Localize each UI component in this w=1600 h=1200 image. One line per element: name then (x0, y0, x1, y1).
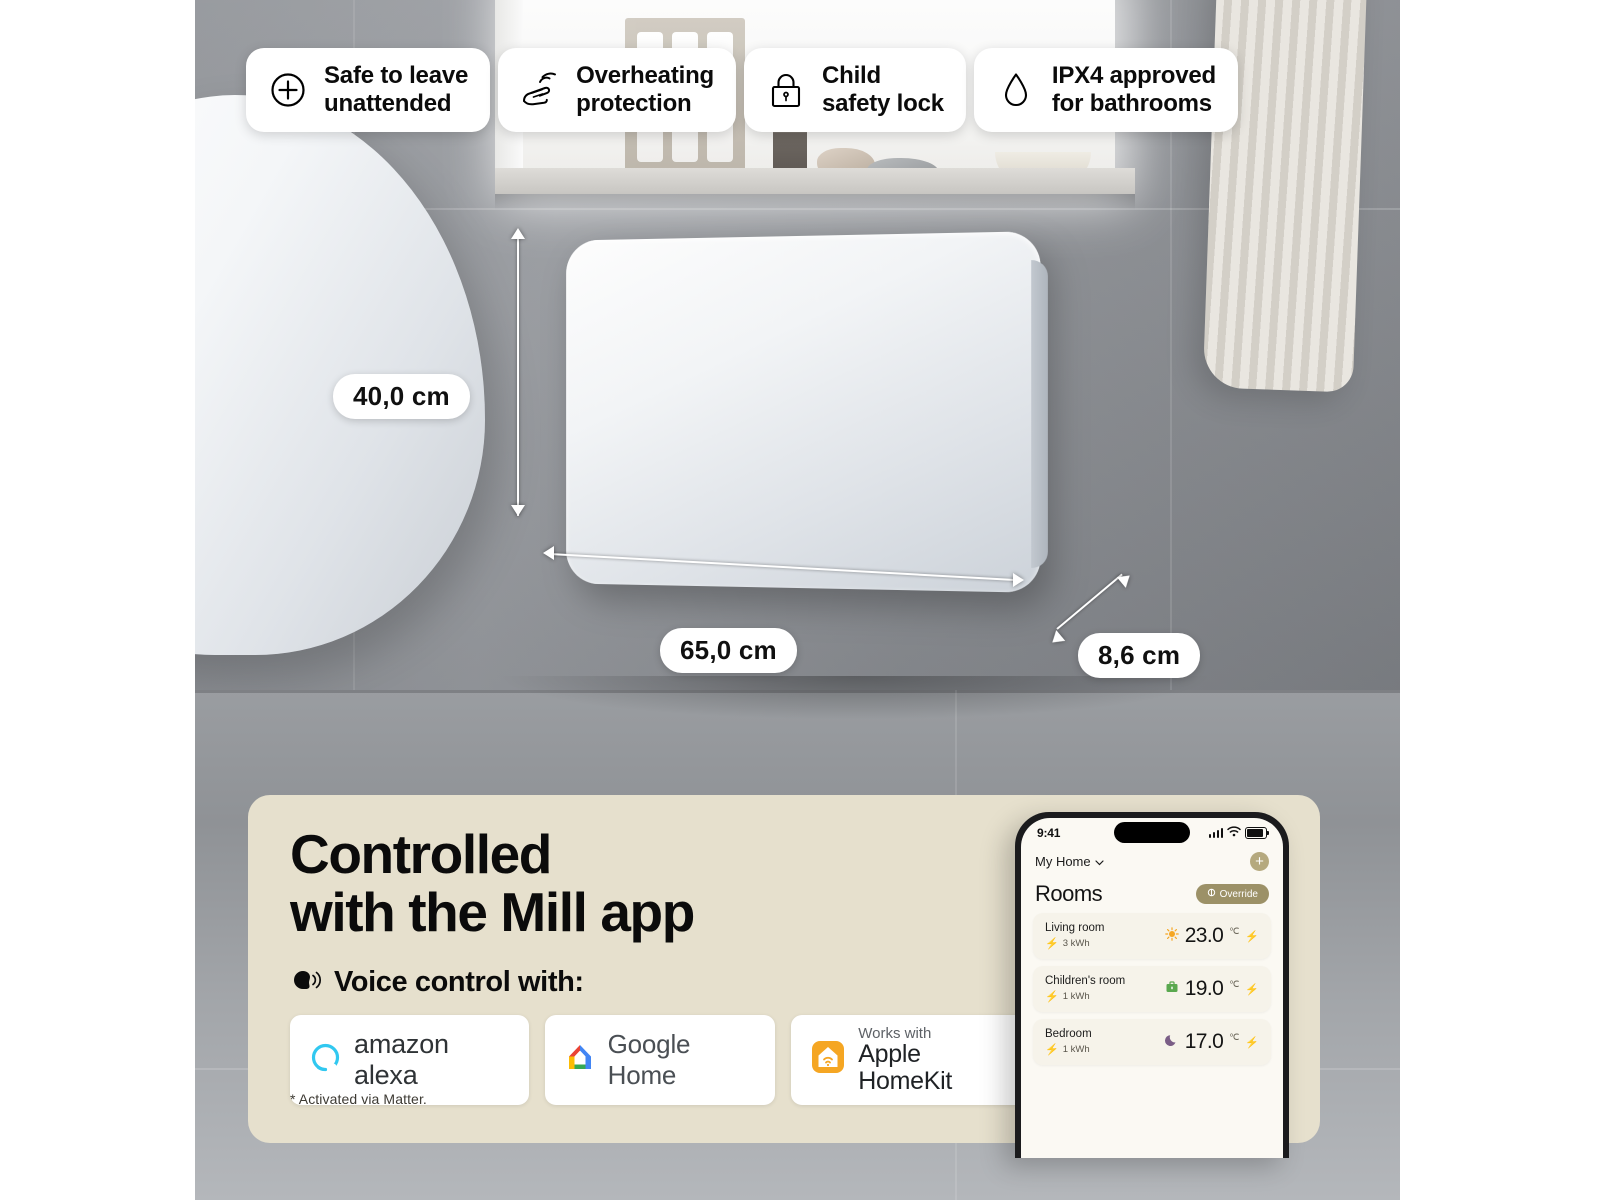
room-temp-unit: ℃ (1229, 926, 1239, 937)
override-icon (1207, 888, 1216, 900)
chip-label-lines: Works with Apple HomeKit (858, 1026, 1010, 1094)
homekit-house-icon (811, 1040, 845, 1079)
feature-badges: Safe to leave unattended Overheating pro… (246, 48, 1238, 132)
room-energy-value: 3 kWh (1063, 938, 1090, 949)
chip-label: Google Home (608, 1029, 756, 1091)
badge-label: Child safety lock (822, 62, 944, 118)
sun-icon (1165, 927, 1179, 946)
badge-child-safety-lock: Child safety lock (744, 48, 966, 132)
dynamic-island (1114, 822, 1190, 843)
water-drop-icon (996, 70, 1036, 110)
room-row-childrens-room[interactable]: Children's room ⚡ 1 kWh 19.0 (1033, 966, 1271, 1012)
room-row-living-room[interactable]: Living room ⚡ 3 kWh (1033, 913, 1271, 959)
badge-overheating-protection: Overheating protection (498, 48, 736, 132)
room-temp-unit: ℃ (1229, 979, 1239, 990)
badge-label: Safe to leave unattended (324, 62, 468, 118)
room-energy: ⚡ 1 kWh (1045, 1043, 1092, 1056)
chip-label: amazon alexa (354, 1029, 509, 1091)
room-name: Bedroom (1045, 1028, 1092, 1040)
moon-icon (1165, 1033, 1179, 1052)
room-energy: ⚡ 3 kWh (1045, 937, 1104, 950)
wifi-icon (1227, 824, 1241, 842)
room-name: Living room (1045, 922, 1104, 934)
phone-mockup: 9:41 My Home (1015, 812, 1289, 1158)
badge-safe-to-leave-unattended: Safe to leave unattended (246, 48, 490, 132)
rooms-title: Rooms (1035, 881, 1102, 907)
room-temp-unit: ℃ (1229, 1032, 1239, 1043)
width-arrow-left (543, 546, 554, 560)
height-arrow-bottom (511, 505, 525, 516)
heater-ground-shadow (495, 676, 1215, 720)
room-temperature: 17.0 (1185, 1030, 1223, 1054)
bolt-icon: ⚡ (1045, 937, 1059, 950)
override-button[interactable]: Override (1196, 884, 1269, 904)
room-temperature: 23.0 (1185, 924, 1223, 948)
homekit-works-with-label: Works with (858, 1026, 1010, 1042)
height-arrow-top (511, 228, 525, 239)
room-temperature: 19.0 (1185, 977, 1223, 1001)
chip-apple-homekit[interactable]: Works with Apple HomeKit (791, 1015, 1030, 1105)
battery-icon (1245, 827, 1267, 839)
signal-bars-icon (1209, 828, 1224, 838)
status-time: 9:41 (1037, 826, 1060, 840)
home-selector-label: My Home (1035, 854, 1091, 869)
bolt-icon: ⚡ (1245, 1036, 1259, 1049)
room-energy-value: 1 kWh (1063, 1044, 1090, 1055)
promo-text-block: Controlled with the Mill app Voice contr… (290, 825, 1030, 1105)
sill-shadow (495, 194, 1135, 210)
product-marketing-image: 40,0 cm 65,0 cm 8,6 cm Safe to leave una… (0, 0, 1600, 1200)
mill-app-screen: 9:41 My Home (1021, 818, 1283, 1158)
briefcase-icon (1165, 980, 1179, 999)
speaking-head-icon (290, 967, 322, 998)
matter-footnote: * Activated via Matter. (290, 1091, 427, 1107)
rooms-section-header: Rooms Override (1021, 871, 1283, 913)
add-device-button[interactable]: + (1250, 852, 1269, 871)
app-header: My Home + (1021, 846, 1283, 871)
heater-side-edge (1031, 260, 1048, 569)
home-selector[interactable]: My Home (1035, 854, 1104, 869)
override-label: Override (1220, 889, 1258, 900)
chip-google-home[interactable]: Google Home (545, 1015, 776, 1105)
mill-panel-heater (566, 231, 1040, 593)
hand-heat-waves-icon (520, 70, 560, 110)
depth-dimension-label: 8,6 cm (1078, 633, 1200, 678)
bolt-icon: ⚡ (1245, 930, 1259, 943)
room-energy: ⚡ 1 kWh (1045, 990, 1125, 1003)
bolt-icon: ⚡ (1045, 990, 1059, 1003)
badge-label: Overheating protection (576, 62, 714, 118)
badge-label: IPX4 approved for bathrooms (1052, 62, 1216, 118)
height-dimension-line (517, 236, 519, 516)
room-row-bedroom[interactable]: Bedroom ⚡ 1 kWh 17.0 ℃ ⚡ (1033, 1019, 1271, 1065)
window-sill (495, 168, 1135, 194)
plus-circle-icon (268, 70, 308, 110)
bolt-icon: ⚡ (1045, 1043, 1059, 1056)
badge-ipx4-approved: IPX4 approved for bathrooms (974, 48, 1238, 132)
google-home-house-icon (565, 1042, 595, 1078)
padlock-icon (766, 70, 806, 110)
alexa-ring-icon (310, 1042, 341, 1078)
width-arrow-right (1013, 573, 1024, 587)
chevron-down-icon (1095, 854, 1104, 869)
room-name: Children's room (1045, 975, 1125, 987)
height-dimension-label: 40,0 cm (333, 374, 470, 419)
phone-status-bar: 9:41 (1021, 818, 1283, 846)
room-energy-value: 1 kWh (1063, 991, 1090, 1002)
bolt-icon: ⚡ (1245, 983, 1259, 996)
promo-headline: Controlled with the Mill app (290, 825, 1030, 942)
voice-control-label: Voice control with: (334, 966, 584, 999)
voice-control-row: Voice control with: (290, 966, 1030, 999)
homekit-label: Apple HomeKit (858, 1041, 1010, 1094)
width-dimension-label: 65,0 cm (660, 628, 797, 673)
